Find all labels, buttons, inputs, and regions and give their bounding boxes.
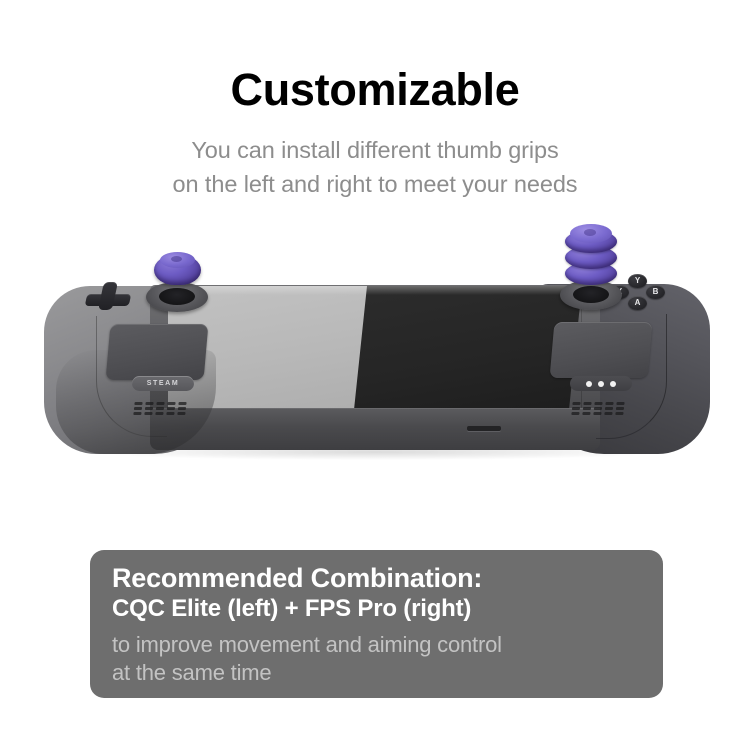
left-speaker-grille: [133, 402, 186, 415]
button-y[interactable]: Y: [628, 274, 647, 288]
callout-title: Recommended Combination:: [112, 562, 663, 594]
steam-button-label: STEAM: [147, 380, 180, 387]
page-subtitle: You can install different thumb grips on…: [0, 133, 750, 201]
led-indicator-3: [610, 381, 616, 387]
dpad[interactable]: [86, 280, 132, 314]
callout-combination: CQC Elite (left) + FPS Pro (right): [112, 594, 663, 623]
subtitle-line-1: You can install different thumb grips: [0, 133, 750, 167]
subtitle-line-2: on the left and right to meet your needs: [0, 167, 750, 201]
status-led-strip: [570, 376, 632, 391]
left-trackpad[interactable]: [106, 324, 209, 380]
callout-note-line-1: to improve movement and aiming control: [112, 631, 663, 659]
button-a[interactable]: A: [628, 296, 647, 310]
page-title: Customizable: [0, 66, 750, 113]
recommended-combination-callout: Recommended Combination: CQC Elite (left…: [90, 550, 663, 698]
right-grip-center-nub: [584, 229, 596, 236]
led-indicator-1: [586, 381, 592, 387]
screen-right-half: [354, 286, 582, 410]
screen-glare: [168, 286, 582, 295]
device-front-edge: [150, 408, 600, 450]
button-b[interactable]: B: [646, 285, 665, 299]
product-image-steam-deck: STEAM Y X B A: [0, 230, 750, 490]
left-grip-center-nub: [171, 256, 182, 262]
right-speaker-grille: [571, 402, 624, 415]
left-thumb-grip-cqc-elite[interactable]: [154, 252, 201, 288]
right-thumb-grip-fps-pro[interactable]: [565, 224, 617, 290]
led-indicator-2: [598, 381, 604, 387]
steam-button[interactable]: STEAM: [132, 376, 194, 391]
microsd-port: [467, 426, 501, 431]
right-trackpad[interactable]: [550, 322, 653, 378]
device-screen: [168, 286, 582, 410]
callout-note-line-2: at the same time: [112, 659, 663, 687]
callout-note: to improve movement and aiming control a…: [112, 631, 663, 687]
